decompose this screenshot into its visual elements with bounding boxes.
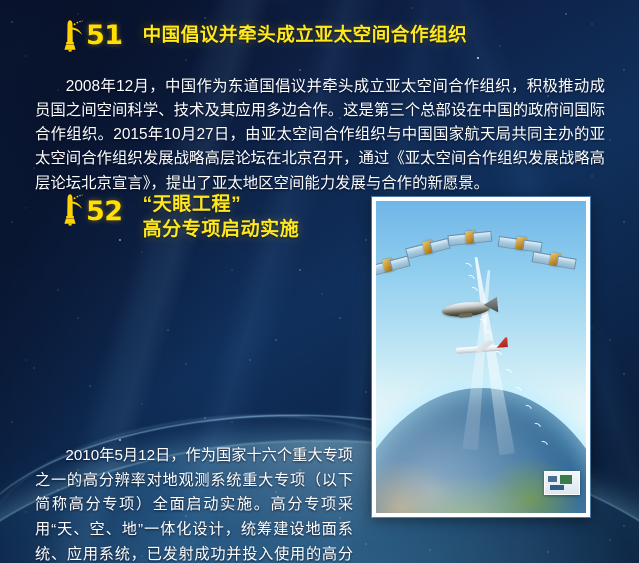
rocket-launch-icon	[57, 18, 87, 52]
infographic-page: 51 中国倡议并牵头成立亚太空间合作组织 2008年12月，中国作为东道国倡议并…	[0, 0, 639, 563]
figure-canvas	[376, 201, 586, 513]
ground-station	[544, 471, 580, 495]
section-51-title: 中国倡议并牵头成立亚太空间合作组织	[143, 23, 468, 48]
satellite	[405, 236, 452, 262]
section-51-number: 51	[86, 22, 123, 49]
section-51-title-line-1: 中国倡议并牵头成立亚太空间合作组织	[143, 23, 468, 48]
airship	[441, 297, 498, 321]
section-52-paragraph: 2010年5月12日，作为国家十六个重大专项之一的高分辨率对地观测系统重大专项（…	[35, 444, 353, 563]
signal-wave	[466, 285, 480, 299]
section-52-number: 52	[86, 198, 123, 225]
section-52-title: “天眼工程” 高分专项启动实施	[143, 192, 300, 243]
earth-observation-figure	[372, 197, 590, 517]
section-52-title-line-1: “天眼工程”	[143, 192, 300, 217]
signal-wave	[463, 273, 477, 287]
page-content: 51 中国倡议并牵头成立亚太空间合作组织 2008年12月，中国作为东道国倡议并…	[0, 0, 639, 563]
rocket-launch-icon	[57, 192, 87, 226]
section-51-paragraph: 2008年12月，中国作为东道国倡议并牵头成立亚太空间合作组织，积极推动成员国之…	[35, 75, 605, 195]
satellite	[447, 229, 492, 250]
satellite	[376, 254, 411, 281]
signal-wave	[460, 261, 474, 275]
section-52-title-line-2: 高分专项启动实施	[143, 217, 300, 242]
signal-wave	[500, 367, 514, 381]
section-51: 51 中国倡议并牵头成立亚太空间合作组织 2008年12月，中国作为东道国倡议并…	[0, 0, 639, 52]
section-51-header: 51 中国倡议并牵头成立亚太空间合作组织	[0, 0, 639, 52]
satellite	[531, 249, 577, 272]
